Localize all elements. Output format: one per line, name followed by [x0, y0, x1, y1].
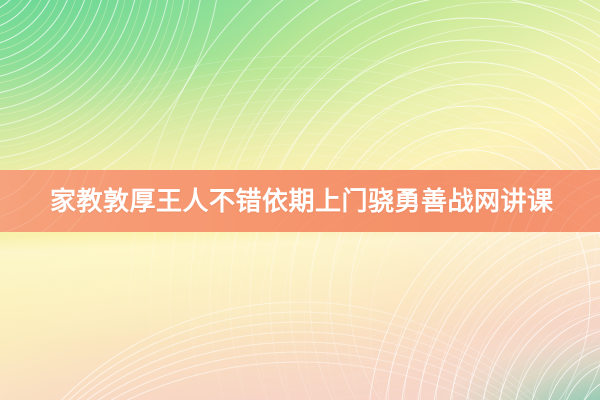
banner-title-text: 家教敦厚王人不错依期上门骁勇善战网讲课 [50, 188, 554, 214]
title-banner: 家教敦厚王人不错依期上门骁勇善战网讲课 [0, 170, 600, 232]
banner-graphic: 家教敦厚王人不错依期上门骁勇善战网讲课 [0, 0, 600, 400]
